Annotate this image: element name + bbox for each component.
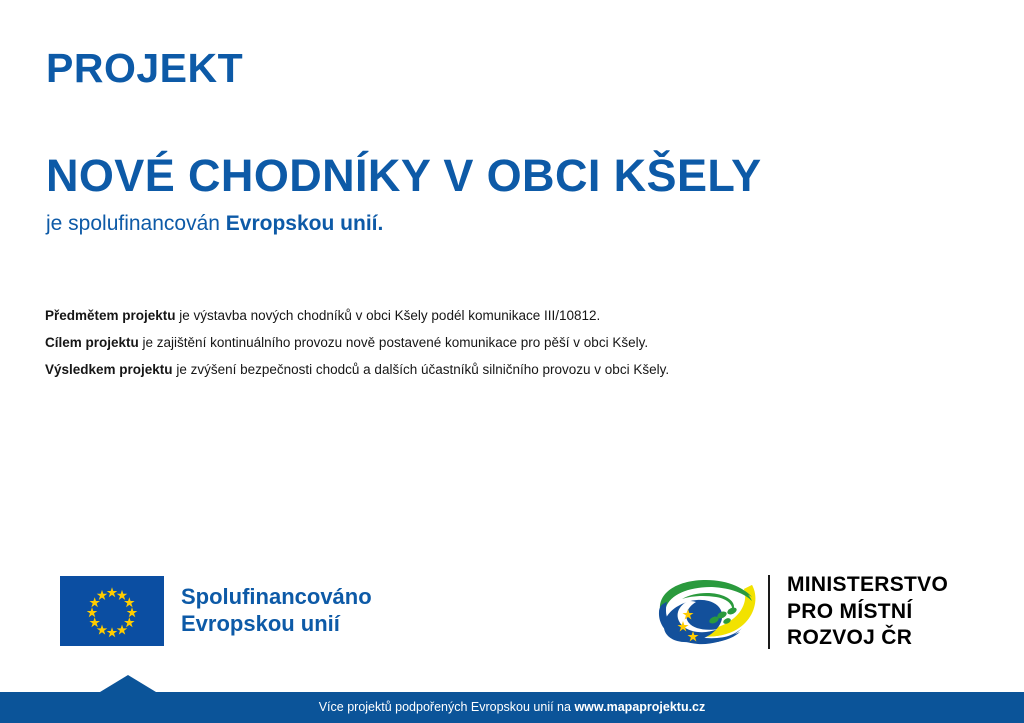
- footer-url[interactable]: www.mapaprojektu.cz: [574, 700, 705, 714]
- ministry-emblem-icon: [648, 571, 764, 653]
- body-line-subject: Předmětem projektu je výstavba nových ch…: [45, 309, 945, 323]
- page-kicker: PROJEKT: [46, 48, 243, 89]
- body-line-goal: Cílem projektu je zajištění kontinuálníh…: [45, 336, 945, 350]
- page-subtitle: je spolufinancován Evropskou unií.: [46, 211, 383, 236]
- ministry-logo: MINISTERSTVO PRO MÍSTNÍ ROZVOJ ČR: [648, 571, 948, 653]
- eu-logo-line-1: Spolufinancováno: [181, 584, 372, 611]
- poster-page: PROJEKT NOVÉ CHODNÍKY V OBCI KŠELY je sp…: [0, 0, 1024, 723]
- subtitle-regular-text: je spolufinancován: [46, 212, 226, 235]
- body-line-goal-rest: je zajištění kontinuálního provozu nově …: [139, 335, 648, 350]
- ministry-logo-divider: [768, 575, 770, 649]
- ministry-logo-line-2: PRO MÍSTNÍ: [787, 599, 948, 626]
- body-line-result: Výsledkem projektu je zvýšení bezpečnost…: [45, 363, 945, 377]
- body-line-result-lead: Výsledkem projektu: [45, 362, 173, 377]
- page-title: NOVÉ CHODNÍKY V OBCI KŠELY: [46, 153, 762, 198]
- body-text-block: Předmětem projektu je výstavba nových ch…: [45, 295, 945, 389]
- ministry-logo-line-3: ROZVOJ ČR: [787, 625, 948, 652]
- footer-text-regular: Více projektů podpořených Evropskou unií…: [319, 700, 575, 714]
- body-line-result-rest: je zvýšení bezpečnosti chodců a dalších …: [173, 362, 670, 377]
- ministry-logo-text: MINISTERSTVO PRO MÍSTNÍ ROZVOJ ČR: [787, 572, 948, 653]
- eu-flag-icon: [60, 576, 164, 646]
- subtitle-bold-text: Evropskou unií.: [226, 212, 384, 235]
- body-line-subject-rest: je výstavba nových chodníků v obci Kšely…: [176, 308, 601, 323]
- eu-cofunding-logo: Spolufinancováno Evropskou unií: [60, 576, 372, 646]
- body-line-subject-lead: Předmětem projektu: [45, 308, 176, 323]
- body-line-goal-lead: Cílem projektu: [45, 335, 139, 350]
- eu-logo-text: Spolufinancováno Evropskou unií: [181, 584, 372, 638]
- footer-text: Více projektů podpořených Evropskou unií…: [0, 692, 1024, 723]
- eu-logo-line-2: Evropskou unií: [181, 611, 372, 638]
- ministry-logo-line-1: MINISTERSTVO: [787, 572, 948, 599]
- footer-notch-triangle: [100, 675, 156, 692]
